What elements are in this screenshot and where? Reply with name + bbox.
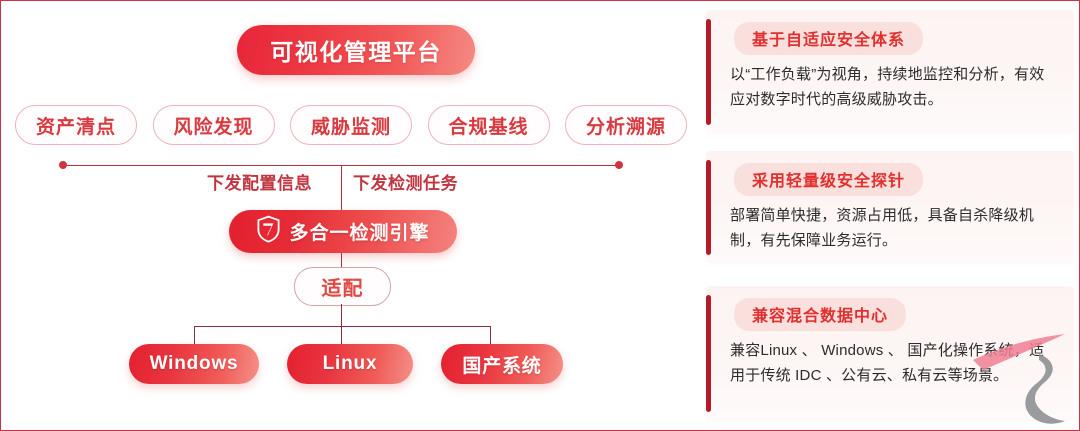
connector-adapter-to-fan [341, 304, 342, 327]
bus-endpoint-dot-right [615, 161, 623, 169]
card-title-badge: 基于自适应安全体系 [734, 22, 923, 55]
shield-icon [256, 215, 281, 248]
platform-label: Linux [323, 353, 378, 375]
platform-pill-row: Windows Linux 国产系统 [129, 344, 563, 384]
feature-card-hybrid-datacenter: 兼容混合数据中心 兼容Linux 、 Windows 、 国产化操作系统，适用于… [706, 286, 1074, 421]
capability-label: 风险发现 [173, 112, 253, 139]
fan-out-branch-center [341, 326, 342, 346]
platform-title-label: 可视化管理平台 [270, 33, 442, 67]
capability-label: 分析溯源 [586, 112, 666, 139]
card-body-text: 以“工作负载”为视角，持续地监控和分析，有效应对数字时代的高级威胁攻击。 [730, 62, 1052, 112]
capability-pill-asset-inventory[interactable]: 资产清点 [15, 105, 137, 145]
capability-pill-analysis-tracing[interactable]: 分析溯源 [565, 105, 687, 145]
card-body-text: 部署简单快捷，资源占用低，具备自杀降级机制，有先保障业务运行。 [730, 203, 1052, 253]
platform-title-pill: 可视化管理平台 [237, 25, 475, 75]
capability-pill-compliance-baseline[interactable]: 合规基线 [428, 105, 550, 145]
platform-label: Windows [150, 353, 239, 375]
fan-out-branch-left [194, 326, 195, 346]
connector-bus-to-engine [341, 165, 342, 211]
platform-label: 国产系统 [462, 351, 541, 378]
detection-engine-pill[interactable]: 多合一检测引擎 [229, 210, 457, 253]
capability-label: 威胁监测 [311, 112, 391, 139]
capability-label: 资产清点 [36, 112, 116, 139]
feature-card-lightweight-agent: 采用轻量级安全探针 部署简单快捷，资源占用低，具备自杀降级机制，有先保障业务运行… [706, 151, 1074, 264]
fan-out-branch-right [490, 326, 491, 346]
bus-label-config: 下发配置信息 [207, 169, 312, 194]
capability-pill-threat-monitoring[interactable]: 威胁监测 [290, 105, 412, 145]
architecture-diagram: 可视化管理平台 资产清点 风险发现 威胁监测 合规基线 分析溯源 下发配置信息 … [1, 1, 701, 431]
card-accent-bar [706, 295, 711, 412]
bus-label-task: 下发检测任务 [353, 169, 458, 194]
feature-card-adaptive-security: 基于自适应安全体系 以“工作负载”为视角，持续地监控和分析，有效应对数字时代的高… [706, 10, 1074, 134]
connector-engine-to-adapter [341, 253, 342, 268]
capability-pill-row: 资产清点 风险发现 威胁监测 合规基线 分析溯源 [15, 105, 687, 145]
card-title-badge: 采用轻量级安全探针 [734, 163, 923, 196]
platform-pill-domestic-os[interactable]: 国产系统 [441, 344, 563, 384]
platform-pill-windows[interactable]: Windows [129, 344, 259, 384]
adapter-label: 适配 [322, 272, 364, 301]
platform-pill-linux[interactable]: Linux [287, 344, 413, 384]
detection-engine-label: 多合一检测引擎 [289, 218, 429, 245]
card-body-text: 兼容Linux 、 Windows 、 国产化操作系统，适用于传统 IDC 、公… [730, 338, 1052, 388]
infographic-page: 可视化管理平台 资产清点 风险发现 威胁监测 合规基线 分析溯源 下发配置信息 … [0, 0, 1080, 431]
card-accent-bar [706, 19, 711, 125]
card-accent-bar [706, 160, 711, 255]
capability-pill-risk-discovery[interactable]: 风险发现 [153, 105, 275, 145]
feature-card-list: 基于自适应安全体系 以“工作负载”为视角，持续地监控和分析，有效应对数字时代的高… [701, 1, 1080, 431]
bus-endpoint-dot-left [59, 161, 67, 169]
capability-label: 合规基线 [448, 112, 528, 139]
card-title-badge: 兼容混合数据中心 [734, 298, 906, 331]
adapter-box[interactable]: 适配 [294, 267, 391, 306]
